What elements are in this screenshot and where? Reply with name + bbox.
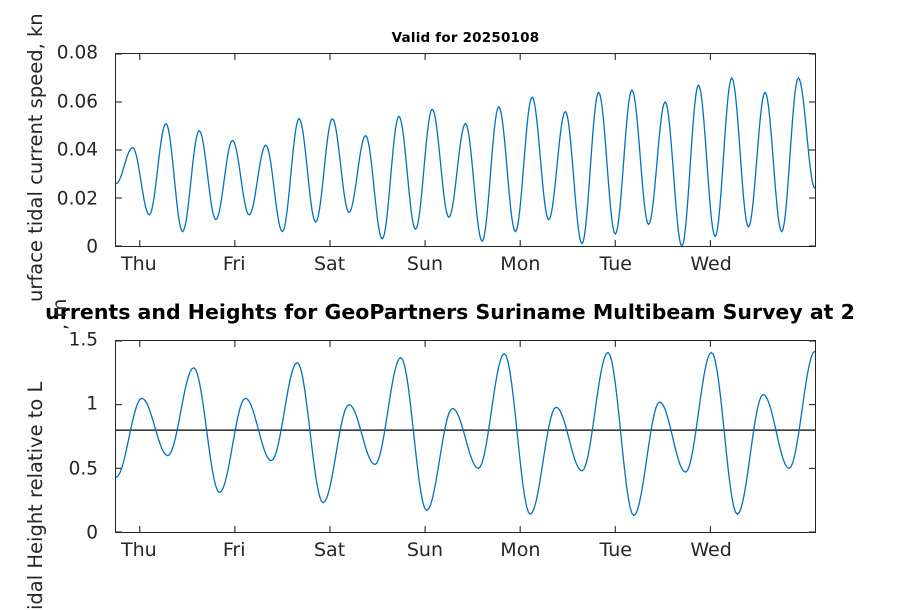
x-tick-label: Thu xyxy=(121,539,157,561)
data-line xyxy=(116,351,815,515)
lower-plot-svg xyxy=(116,341,815,532)
y-tick-label: 0.04 xyxy=(57,140,98,161)
y-tick-label: 0 xyxy=(86,237,98,258)
x-tick-label: Sun xyxy=(407,539,443,561)
y-tick-label: 0.06 xyxy=(57,91,98,112)
y-tick-label: 1.5 xyxy=(69,330,98,351)
lower-y-axis-unit: , m xyxy=(48,299,71,330)
x-tick-label: Fri xyxy=(223,539,246,561)
figure-main-title: urrents and Heights for GeoPartners Suri… xyxy=(0,300,900,324)
x-tick-label: Mon xyxy=(500,253,540,275)
y-tick-label: 0.02 xyxy=(57,188,98,209)
x-tick-label: Tue xyxy=(599,253,631,275)
x-tick-label: Fri xyxy=(223,253,246,275)
x-tick-label: Wed xyxy=(690,253,731,275)
lower-plot-area xyxy=(115,340,816,533)
x-tick-label: Sun xyxy=(407,253,443,275)
tidal-figure: Valid for 20250108 urrents and Heights f… xyxy=(0,0,900,600)
upper-plot-svg xyxy=(116,54,815,246)
y-tick-label: 0.5 xyxy=(69,458,98,479)
data-line xyxy=(116,78,815,246)
lower-y-tick-labels: 00.511.5 xyxy=(0,340,108,533)
x-tick-label: Wed xyxy=(690,539,731,561)
x-tick-label: Thu xyxy=(121,253,157,275)
y-tick-label: 0.08 xyxy=(57,43,98,64)
x-tick-label: Tue xyxy=(599,539,631,561)
lower-x-tick-labels: ThuFriSatSunMonTueWed xyxy=(115,533,816,567)
x-tick-label: Sat xyxy=(314,253,345,275)
x-tick-label: Mon xyxy=(500,539,540,561)
y-tick-label: 0 xyxy=(86,523,98,544)
x-tick-label: Sat xyxy=(314,539,345,561)
upper-plot-area xyxy=(115,53,816,247)
upper-chart-title: Valid for 20250108 xyxy=(115,30,816,46)
y-tick-label: 1 xyxy=(86,394,98,415)
upper-x-tick-labels: ThuFriSatSunMonTueWed xyxy=(115,247,816,281)
upper-y-tick-labels: 00.020.040.060.08 xyxy=(0,53,108,247)
